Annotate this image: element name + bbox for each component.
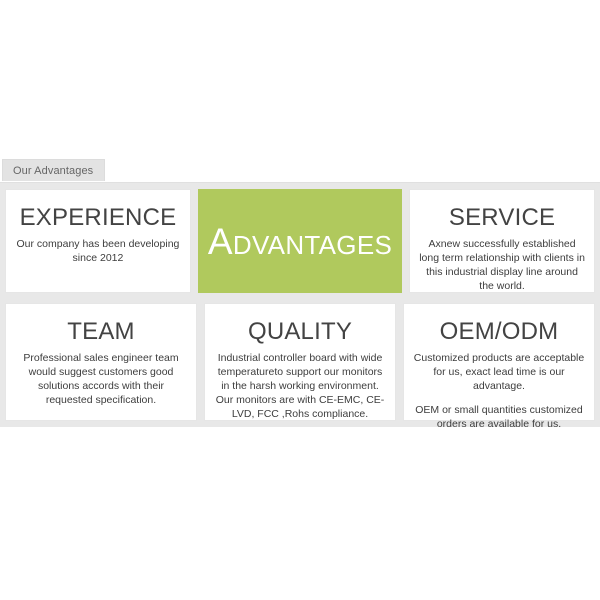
card-title-initial: A (208, 221, 233, 262)
card-advantages-highlight: ADVANTAGES (198, 189, 402, 293)
advantages-panel: EXPERIENCE Our company has been developi… (0, 183, 600, 427)
card-body-text: Our company has been developing since 20… (15, 237, 181, 265)
tab-bar-divider (0, 182, 600, 183)
tab-bar: Our Advantages (0, 158, 600, 183)
card-service: SERVICE Axnew successfully established l… (409, 189, 595, 293)
card-body-text: Industrial controller board with wide te… (214, 351, 386, 421)
advantages-row-1: EXPERIENCE Our company has been developi… (5, 189, 595, 293)
advantages-row-2: TEAM Professional sales engineer team wo… (5, 303, 595, 421)
card-body-text: Axnew successfully established long term… (419, 237, 585, 293)
card-title: OEM/ODM (440, 318, 559, 346)
tab-our-advantages[interactable]: Our Advantages (2, 159, 105, 181)
card-title-rest: DVANTAGES (233, 230, 392, 260)
card-title: EXPERIENCE (20, 204, 177, 232)
card-title: ADVANTAGES (208, 223, 392, 260)
page-root: Our Advantages EXPERIENCE Our company ha… (0, 0, 600, 600)
card-body-text-secondary: OEM or small quantities customized order… (413, 403, 585, 431)
card-title: TEAM (67, 318, 134, 346)
card-experience: EXPERIENCE Our company has been developi… (5, 189, 191, 293)
card-body-text: Professional sales engineer team would s… (15, 351, 187, 407)
bottom-whitespace (0, 427, 600, 587)
card-title: SERVICE (449, 204, 555, 232)
card-body-text: Customized products are acceptable for u… (413, 351, 585, 393)
card-quality: QUALITY Industrial controller board with… (204, 303, 396, 421)
card-title: QUALITY (248, 318, 352, 346)
card-oem-odm: OEM/ODM Customized products are acceptab… (403, 303, 595, 421)
card-team: TEAM Professional sales engineer team wo… (5, 303, 197, 421)
top-whitespace (0, 0, 600, 158)
